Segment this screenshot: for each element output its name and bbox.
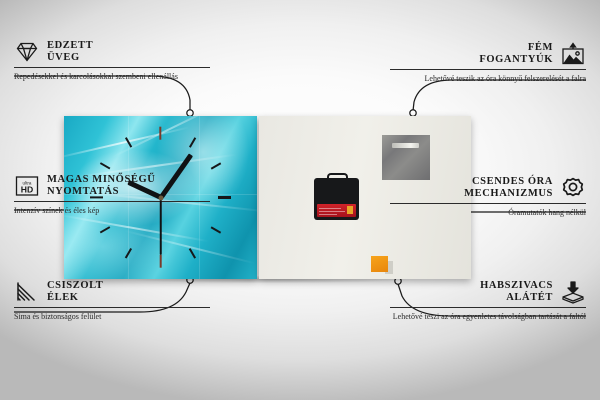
hanger-slot	[392, 143, 419, 148]
clock-tick	[211, 226, 221, 233]
callout-description: Óramutatók hang nélkül	[390, 208, 586, 219]
callout-silent-mechanism: CSENDES ÓRA MECHANIZMUS Óramutatók hang …	[390, 176, 586, 219]
callout-description: Sima és biztonságos felület	[14, 312, 210, 323]
divider	[390, 203, 586, 204]
ultra-hd-icon: ultra HD	[14, 174, 40, 198]
clock-tick	[125, 248, 132, 258]
clock-tick	[159, 255, 161, 268]
battery-terminal	[347, 206, 353, 214]
picture-hanger-icon	[560, 42, 586, 66]
polished-edges-icon	[14, 280, 40, 304]
callout-polished-edges: CSISZOLT ÉLEK Sima és biztonságos felüle…	[14, 280, 210, 323]
clock-tick	[189, 137, 196, 147]
divider	[14, 307, 210, 308]
clock-tick	[100, 162, 110, 169]
callout-title: EDZETT ÜVEG	[47, 40, 93, 64]
callout-description: Intenzív színek és éles kép	[14, 206, 210, 217]
clock-tick	[125, 137, 132, 147]
callout-title: HABSZIVACS ALÁTÉT	[480, 280, 553, 304]
callout-description: Lehetővé teszi az óra egyenletes távolsá…	[390, 312, 586, 323]
clock-tick	[100, 226, 110, 233]
metal-hanger-bracket	[382, 135, 430, 180]
divider	[390, 69, 586, 70]
callout-tempered-glass: EDZETT ÜVEG Repedésekkel és karcolásokka…	[14, 40, 210, 83]
divider	[390, 307, 586, 308]
clock-second-hand	[160, 198, 162, 255]
divider	[14, 201, 210, 202]
clock-tick	[218, 196, 231, 198]
callout-title: FÉM FOGANTYÚK	[479, 42, 553, 66]
callout-metal-handles: FÉM FOGANTYÚK Lehetővé teszik az óra kön…	[390, 42, 586, 85]
infographic-canvas: EDZETT ÜVEG Repedésekkel és karcolásokka…	[0, 0, 600, 400]
clock-tick	[211, 162, 221, 169]
clock-tick	[189, 248, 196, 258]
svg-text:HD: HD	[21, 185, 33, 195]
divider	[14, 67, 210, 68]
battery	[317, 204, 356, 217]
gear-icon	[560, 176, 586, 200]
callout-title: CSENDES ÓRA MECHANIZMUS	[464, 176, 553, 200]
foam-pad-icon	[560, 280, 586, 304]
callout-title: CSISZOLT ÉLEK	[47, 280, 103, 304]
callout-description: Repedésekkel és karcolásokkal szembeni e…	[14, 72, 210, 83]
quartz-clock-mechanism	[314, 178, 359, 220]
diamond-icon	[14, 40, 40, 64]
callout-high-quality-print: ultra HD MAGAS MINŐSÉGŰ NYOMTATÁS Intenz…	[14, 174, 210, 217]
clock-center-hub	[158, 195, 163, 200]
orange-foam-pad	[371, 256, 388, 272]
callout-foam-pad: HABSZIVACS ALÁTÉT Lehetővé teszi az óra …	[390, 280, 586, 323]
clock-tick	[159, 127, 161, 140]
callout-description: Lehetővé teszik az óra könnyű felszerelé…	[390, 74, 586, 85]
